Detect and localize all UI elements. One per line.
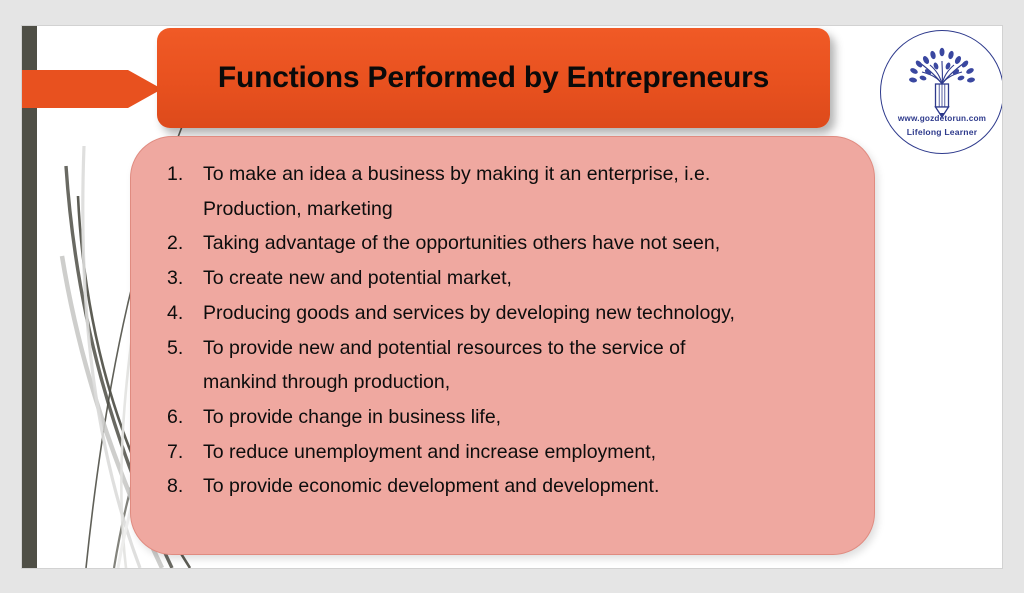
list-item: 6. To provide change in business life, [167, 400, 848, 435]
list-item: 3. To create new and potential market, [167, 261, 848, 296]
list-item-number: 3. [167, 261, 203, 296]
list-item-line1: To make an idea a business by making it … [203, 163, 710, 185]
list-item-text: Taking advantage of the opportunities ot… [203, 226, 848, 261]
list-item: 4. Producing goods and services by devel… [167, 296, 848, 331]
list-item-text: To make an idea a business by making it … [203, 157, 848, 226]
list-item-number: 7. [167, 435, 203, 470]
slide-viewer: Functions Performed by Entrepreneurs 1. … [0, 0, 1024, 593]
list-item-line1: Taking advantage of the opportunities ot… [203, 232, 720, 254]
list-item-text: Producing goods and services by developi… [203, 296, 848, 331]
list-item-number: 4. [167, 296, 203, 331]
page-title: Functions Performed by Entrepreneurs [218, 61, 769, 95]
list-item-number: 6. [167, 400, 203, 435]
list-item-text: To reduce unemployment and increase empl… [203, 435, 848, 470]
slide-canvas: Functions Performed by Entrepreneurs 1. … [22, 26, 1002, 568]
list-item-number: 8. [167, 469, 203, 504]
list-item-line1: To create new and potential market, [203, 267, 512, 289]
list-item-text: To provide new and potential resources t… [203, 331, 848, 400]
list-item-line2: Production, marketing [203, 192, 848, 227]
list-item-text: To create new and potential market, [203, 261, 848, 296]
list-item-number: 5. [167, 331, 203, 366]
title-banner: Functions Performed by Entrepreneurs [157, 28, 830, 128]
list-item-number: 1. [167, 157, 203, 192]
list-item-line1: To provide new and potential resources t… [203, 337, 685, 359]
logo-url-text: www.gozdetorun.com [880, 114, 1002, 123]
content-box: 1. To make an idea a business by making … [130, 136, 875, 555]
list-item-number: 2. [167, 226, 203, 261]
list-item-line1: To provide economic development and deve… [203, 475, 659, 497]
list-item: 7. To reduce unemployment and increase e… [167, 435, 848, 470]
list-item-text: To provide change in business life, [203, 400, 848, 435]
list-item: 1. To make an idea a business by making … [167, 157, 848, 226]
list-item: 8. To provide economic development and d… [167, 469, 848, 504]
list-item-text: To provide economic development and deve… [203, 469, 848, 504]
functions-list: 1. To make an idea a business by making … [167, 157, 848, 504]
list-item: 5. To provide new and potential resource… [167, 331, 848, 400]
orange-arrow-icon [22, 67, 162, 111]
list-item: 2. Taking advantage of the opportunities… [167, 226, 848, 261]
list-item-line1: Producing goods and services by developi… [203, 302, 735, 324]
list-item-line1: To provide change in business life, [203, 406, 501, 428]
list-item-line2: mankind through production, [203, 365, 848, 400]
brand-logo: www.gozdetorun.com Lifelong Learner [880, 30, 1002, 154]
list-item-line1: To reduce unemployment and increase empl… [203, 441, 656, 463]
logo-tagline-text: Lifelong Learner [880, 127, 1002, 137]
